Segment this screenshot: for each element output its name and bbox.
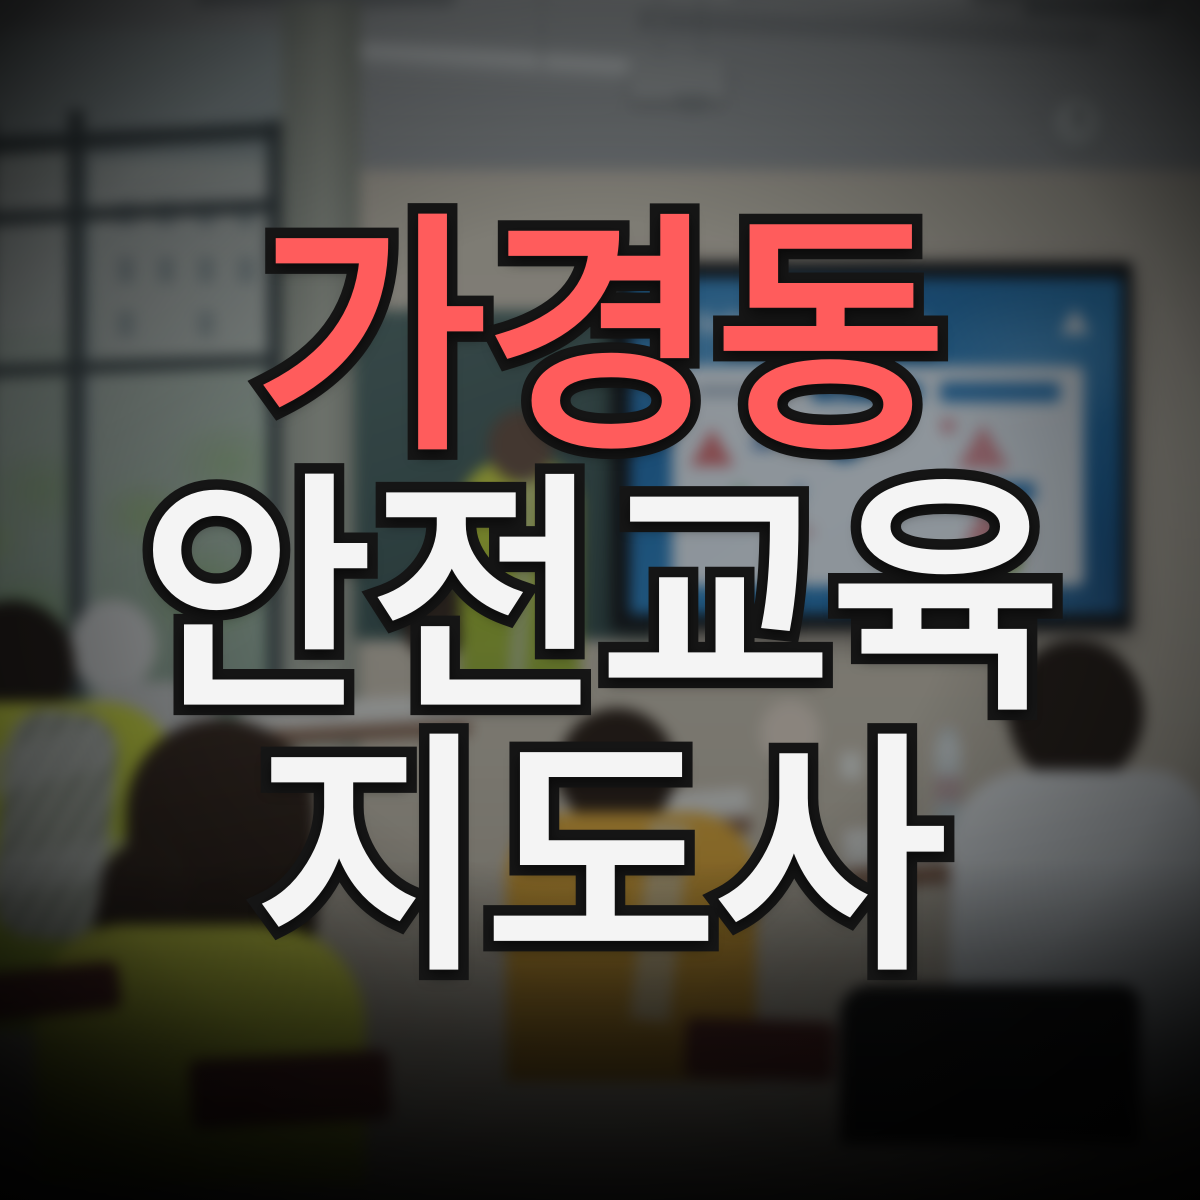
poster-canvas: Safety Guidelines — [0, 0, 1200, 1200]
title-block: 가경동 안전교육 지도사 — [0, 0, 1200, 1200]
title-line-2: 안전교육 — [140, 479, 1059, 721]
title-line-3: 지도사 — [255, 739, 945, 981]
title-line-1: 가경동 — [255, 219, 945, 461]
